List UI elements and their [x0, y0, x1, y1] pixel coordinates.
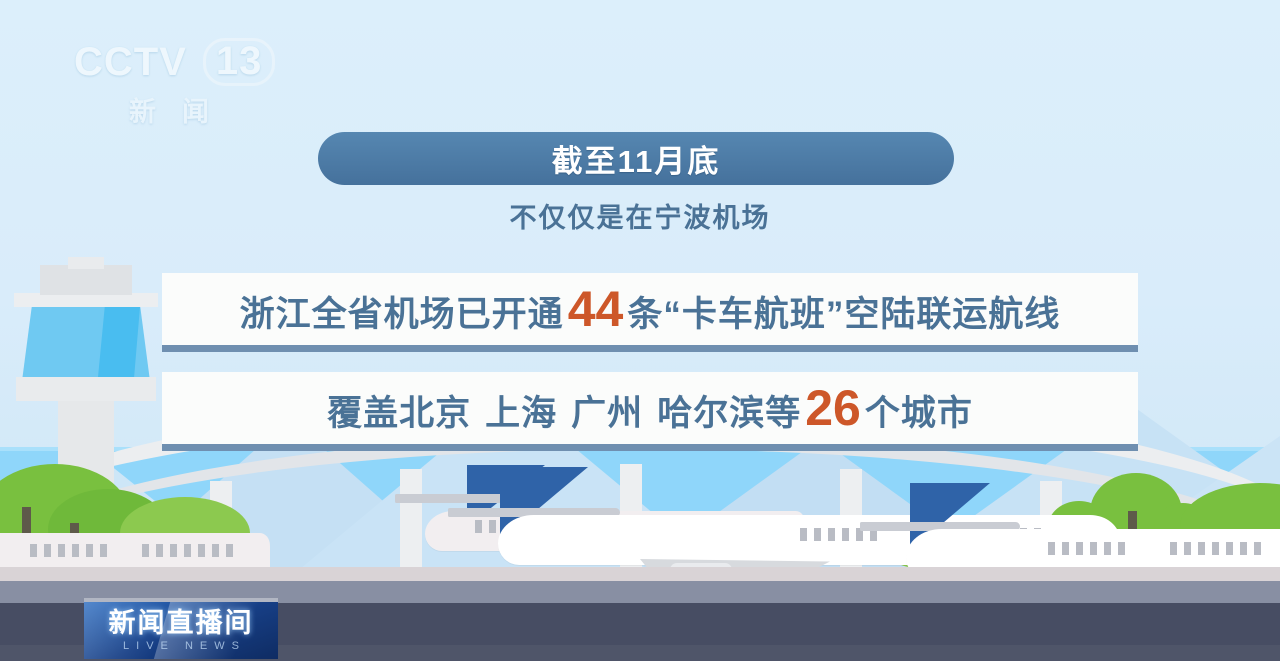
cctv-logo-number: 13	[203, 38, 276, 86]
city-shanghai: 上海	[485, 396, 557, 431]
stat-number-routes: 44	[564, 284, 628, 334]
cctv-logo-sub-right: 闻	[182, 90, 209, 129]
headline-banner: 截至11月底	[318, 132, 954, 185]
news-program-bug: 新闻直播间 LIVE NEWS	[84, 602, 278, 659]
stat-card-routes: 浙江全省机场已开通 44 条“卡车航班”空陆联运航线	[162, 273, 1138, 345]
tower-mast	[68, 257, 104, 269]
tower-glass-highlight	[98, 307, 140, 377]
headline-banner-text: 截至11月底	[552, 136, 721, 181]
news-program-name-en: LIVE NEWS	[116, 640, 246, 652]
city-guangzhou: 广州	[571, 396, 643, 431]
cabin-windows	[1170, 542, 1261, 555]
cctv-logo-sub-left: 新	[129, 90, 156, 129]
stat-text-cities-unit: 个城市	[865, 396, 973, 431]
stat-text-covers: 覆盖北京	[327, 396, 471, 431]
cctv-logo-letters: CCTV	[74, 40, 187, 85]
news-program-name-cn: 新闻直播间	[109, 609, 254, 637]
tower-roof	[40, 265, 132, 295]
cabin-windows	[30, 544, 107, 557]
stat-card-cities: 覆盖北京 上海 广州 哈尔滨等 26 个城市	[162, 372, 1138, 444]
stat-text-prefix: 浙江全省机场已开通	[240, 297, 564, 332]
broadcast-frame: CCTV 13 新 闻 截至11月底 不仅仅是在宁波机场 浙江全省机场已开通 4…	[0, 0, 1280, 661]
cabin-windows	[1048, 542, 1125, 555]
cctv-logo-subtitle: 新 闻	[74, 90, 264, 129]
cctv-13-logo: CCTV 13 新 闻	[74, 38, 264, 136]
cabin-windows	[142, 544, 233, 557]
stat-text-suffix: 条“卡车航班”空陆联运航线	[627, 297, 1060, 332]
headline-subtitle: 不仅仅是在宁波机场	[0, 196, 1280, 235]
cctv-logo-top: CCTV 13	[74, 38, 264, 86]
stat-card-cities-content: 覆盖北京 上海 广州 哈尔滨等 26 个城市	[162, 383, 1138, 433]
city-harbin: 哈尔滨等	[657, 396, 801, 431]
tower-sill	[16, 377, 156, 401]
cctv-logo-slash	[189, 43, 201, 81]
stat-number-cities: 26	[801, 383, 865, 433]
stat-card-routes-content: 浙江全省机场已开通 44 条“卡车航班”空陆联运航线	[162, 284, 1138, 334]
tower-cap	[14, 293, 158, 307]
